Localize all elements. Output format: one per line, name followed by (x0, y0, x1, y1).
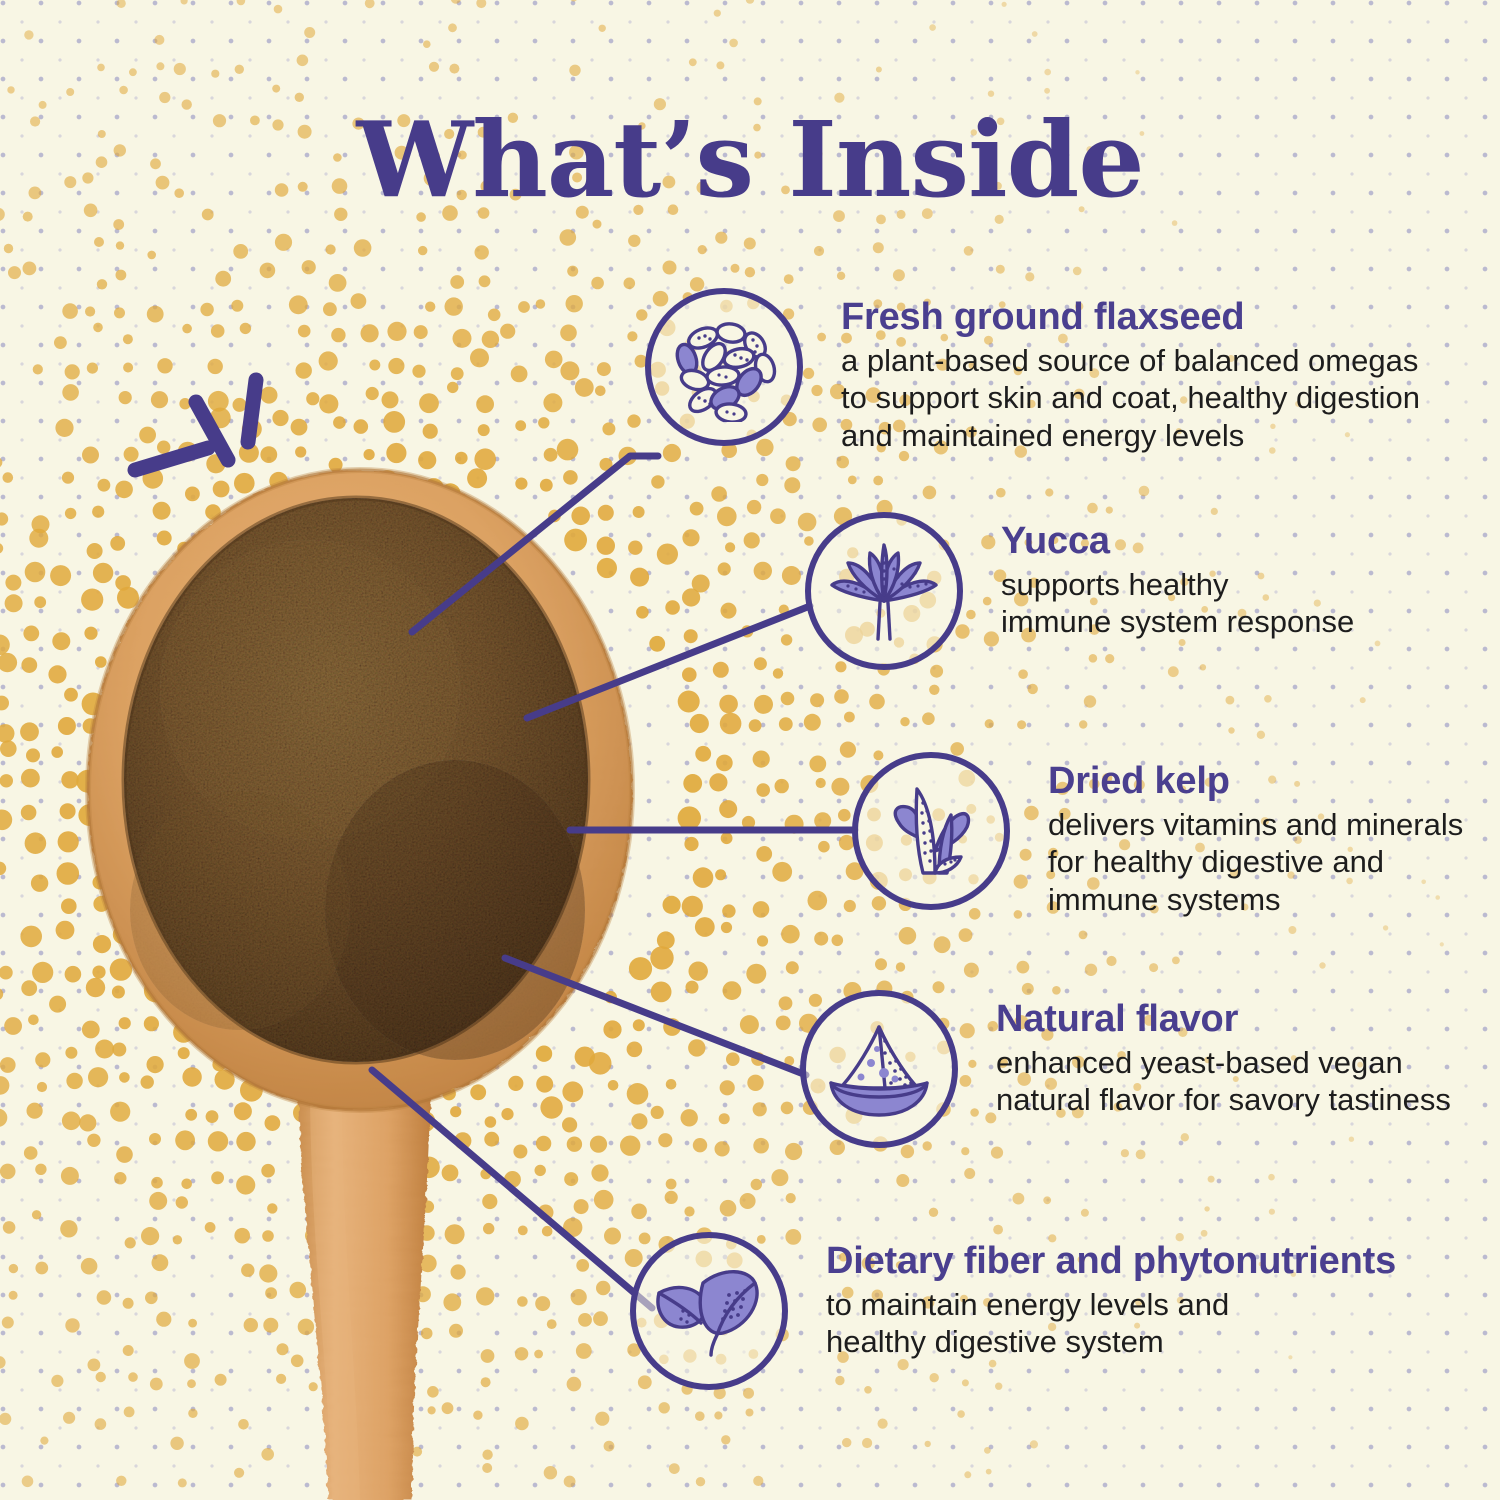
bowl-of-powder-icon (821, 1019, 937, 1119)
callout-text-flaxseed: Fresh ground flaxseed a plant-based sour… (841, 288, 1420, 454)
callout-body: to maintain energy levels and healthy di… (826, 1286, 1396, 1361)
page-title: What’s Inside (0, 104, 1500, 216)
callout-heading: Dietary fiber and phytonutrients (826, 1240, 1396, 1283)
callout-natural-flavor: Natural flavor enhanced yeast-based vega… (800, 990, 1451, 1148)
callout-heading: Natural flavor (996, 998, 1451, 1041)
callout-heading: Dried kelp (1048, 760, 1463, 803)
callout-text-yucca: Yucca supports healthy immune system res… (1001, 512, 1354, 641)
badge-yucca (805, 512, 963, 670)
flaxseed-cluster-icon (669, 312, 779, 422)
callout-heading: Yucca (1001, 520, 1354, 563)
callout-heading: Fresh ground flaxseed (841, 296, 1420, 339)
callout-text-dietary-fiber: Dietary fiber and phytonutrients to main… (826, 1232, 1396, 1361)
two-leaves-icon (651, 1259, 767, 1363)
badge-natural-flavor (800, 990, 958, 1148)
callout-dietary-fiber: Dietary fiber and phytonutrients to main… (630, 1232, 1396, 1390)
callout-kelp: Dried kelp delivers vitamins and mineral… (852, 752, 1463, 918)
kelp-seaweed-icon (877, 777, 985, 885)
callout-flaxseed: Fresh ground flaxseed a plant-based sour… (645, 288, 1420, 454)
badge-kelp (852, 752, 1010, 910)
badge-flaxseed (645, 288, 803, 446)
callout-body: supports healthy immune system response (1001, 566, 1354, 641)
callout-body: enhanced yeast-based vegan natural flavo… (996, 1044, 1451, 1119)
callout-text-natural-flavor: Natural flavor enhanced yeast-based vega… (996, 990, 1451, 1119)
wooden-spoon-with-flaxseed (60, 440, 720, 1500)
callout-text-kelp: Dried kelp delivers vitamins and mineral… (1048, 752, 1463, 918)
callout-body: a plant-based source of balanced omegas … (841, 342, 1420, 455)
sparkle-accent-marks (110, 360, 310, 500)
badge-dietary-fiber (630, 1232, 788, 1390)
callout-body: delivers vitamins and minerals for healt… (1048, 806, 1463, 919)
infographic-canvas: What’s Inside (0, 0, 1500, 1500)
yucca-plant-icon (828, 539, 940, 644)
callout-yucca: Yucca supports healthy immune system res… (805, 512, 1354, 670)
